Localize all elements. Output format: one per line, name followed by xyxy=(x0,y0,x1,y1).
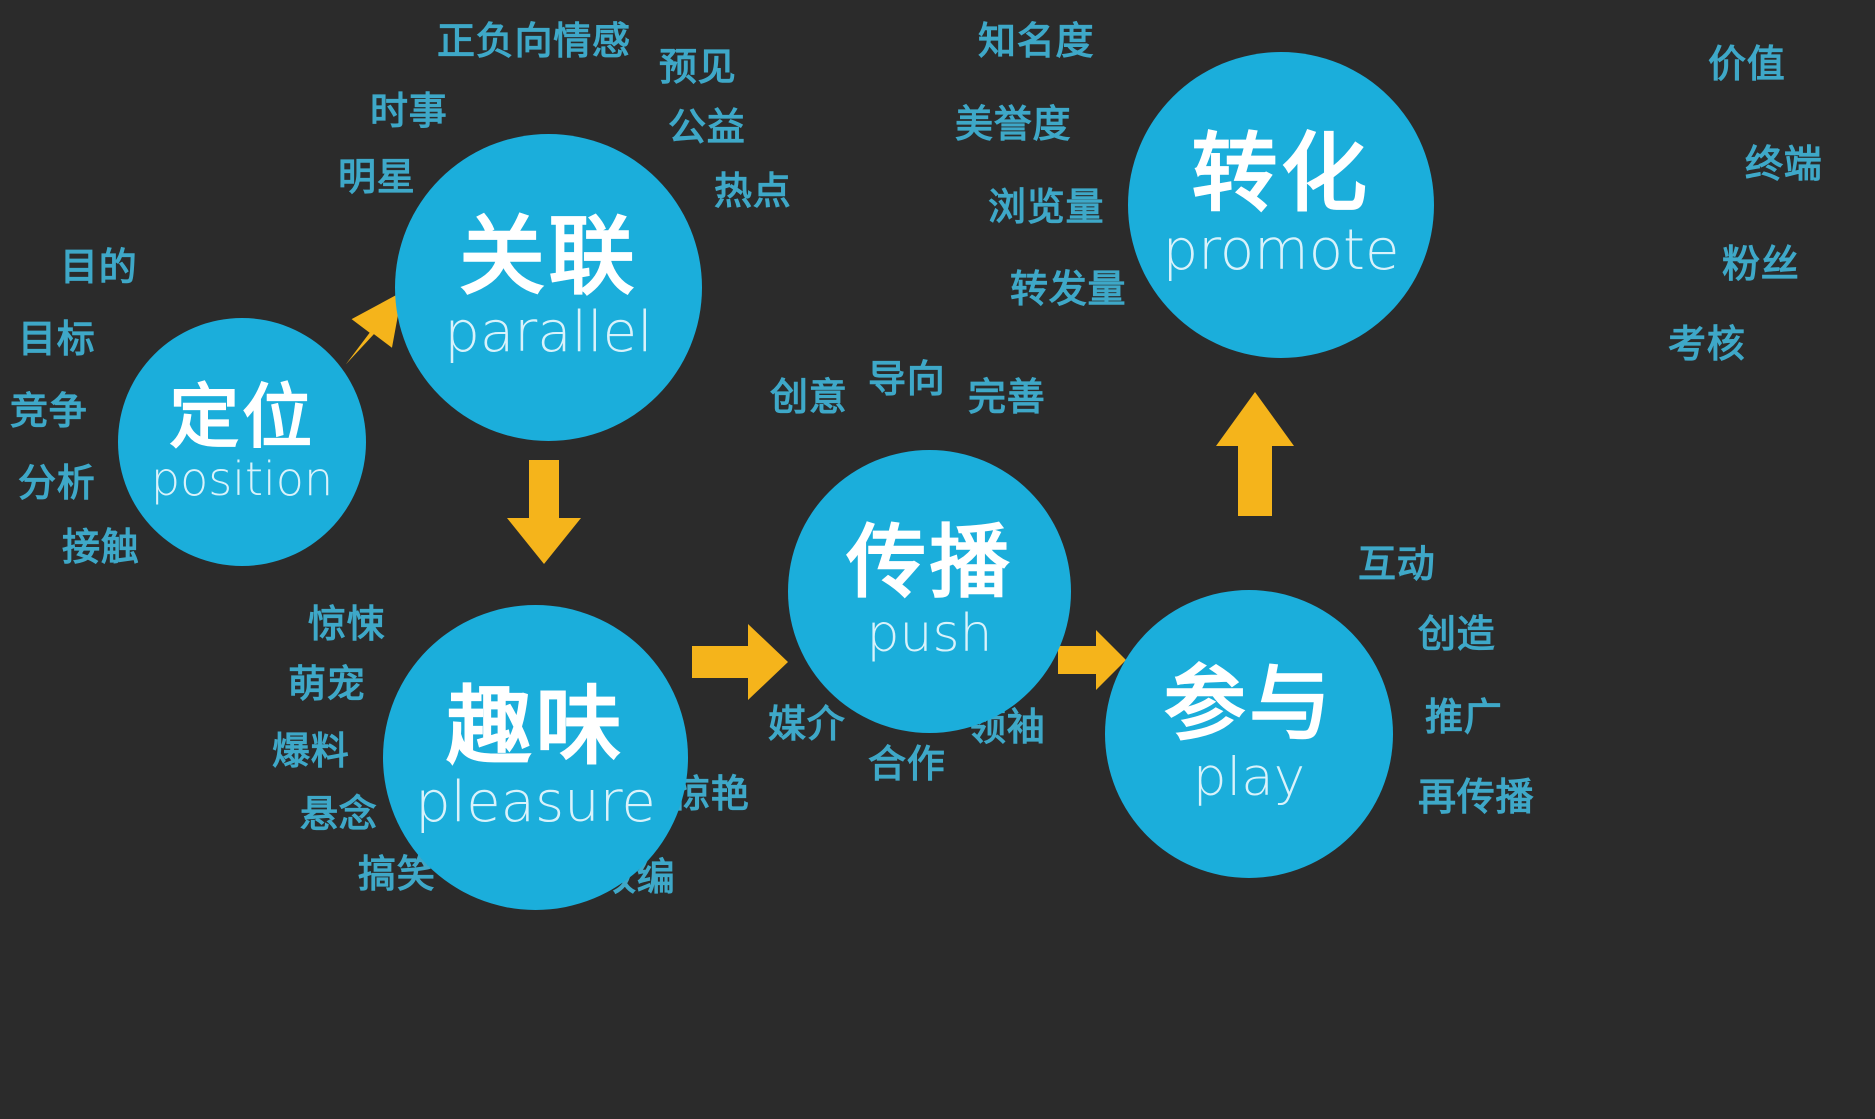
keyword-label: 竞争 xyxy=(10,392,88,430)
keyword-label: 创意 xyxy=(770,378,848,416)
arrow-parallel-to-pleasure xyxy=(503,460,585,570)
node-parallel-subtitle: parallel xyxy=(444,305,652,361)
keyword-label: 粉丝 xyxy=(1722,245,1800,283)
keyword-label: 媒介 xyxy=(768,705,846,743)
keyword-label: 创造 xyxy=(1418,615,1496,653)
keyword-label: 再传播 xyxy=(1418,778,1534,816)
keyword-label: 完善 xyxy=(968,378,1046,416)
keyword-label: 终端 xyxy=(1745,145,1823,183)
keyword-label: 公益 xyxy=(668,108,746,146)
node-play-title: 参与 xyxy=(1164,664,1335,746)
keyword-label: 悬念 xyxy=(300,795,378,833)
node-play[interactable]: 参与 play xyxy=(1105,590,1393,878)
keyword-label: 惊悚 xyxy=(308,605,386,643)
node-promote[interactable]: 转化 promote xyxy=(1128,52,1434,358)
node-parallel[interactable]: 关联 parallel xyxy=(395,134,702,441)
keyword-label: 热点 xyxy=(714,172,792,210)
node-push-subtitle: push xyxy=(866,608,992,660)
keyword-label: 正负向情感 xyxy=(437,22,631,60)
keyword-label: 目的 xyxy=(60,248,138,286)
node-promote-subtitle: promote xyxy=(1163,223,1400,279)
keyword-label: 明星 xyxy=(338,158,416,196)
node-pleasure-subtitle: pleasure xyxy=(415,775,656,831)
node-pleasure-title: 趣味 xyxy=(446,684,625,770)
keyword-label: 美誉度 xyxy=(955,105,1071,143)
keyword-label: 时事 xyxy=(370,92,448,130)
keyword-label: 浏览量 xyxy=(988,188,1104,226)
keyword-label: 接触 xyxy=(62,528,140,566)
node-push-title: 传播 xyxy=(846,523,1012,603)
keyword-label: 导向 xyxy=(868,360,946,398)
keyword-label: 预见 xyxy=(659,48,737,86)
node-position[interactable]: 定位 position xyxy=(118,318,366,566)
keyword-label: 合作 xyxy=(868,745,946,783)
diagram-canvas: 目的 目标 竞争 分析 接触 正负向情感 预见 时事 公益 明星 热点 知名度 … xyxy=(0,0,1875,1119)
node-play-subtitle: play xyxy=(1193,751,1305,804)
keyword-label: 推广 xyxy=(1425,698,1503,736)
node-parallel-title: 关联 xyxy=(459,214,638,300)
keyword-label: 考核 xyxy=(1668,325,1746,363)
node-pleasure[interactable]: 趣味 pleasure xyxy=(383,605,688,910)
node-position-title: 定位 xyxy=(169,382,315,452)
keyword-label: 互动 xyxy=(1358,545,1436,583)
node-position-subtitle: position xyxy=(151,456,333,502)
arrow-play-to-promote xyxy=(1212,390,1298,518)
keyword-label: 知名度 xyxy=(978,22,1094,60)
arrow-pleasure-to-push xyxy=(692,622,792,702)
node-push[interactable]: 传播 push xyxy=(788,450,1071,733)
keyword-label: 价值 xyxy=(1708,45,1786,83)
keyword-label: 萌宠 xyxy=(288,665,366,703)
node-promote-title: 转化 xyxy=(1192,131,1371,217)
keyword-label: 转发量 xyxy=(1010,270,1126,308)
keyword-label: 目标 xyxy=(18,320,96,358)
keyword-label: 爆料 xyxy=(272,732,350,770)
keyword-label: 分析 xyxy=(18,464,96,502)
